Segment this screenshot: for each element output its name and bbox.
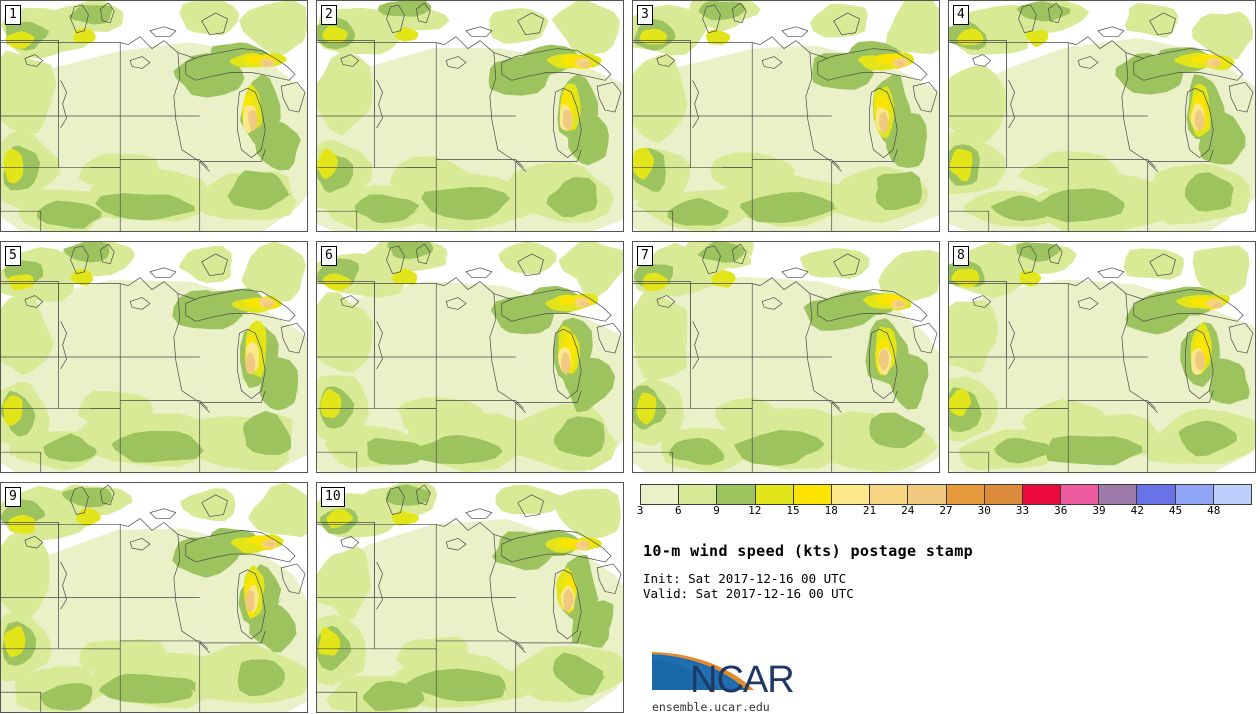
colorbar-tick-label: 33 xyxy=(1016,505,1029,517)
colorbar-segment xyxy=(1061,485,1099,504)
colorbar-tick-label: 36 xyxy=(1054,505,1067,517)
colorbar-segment xyxy=(947,485,985,504)
panel-member-label: 4 xyxy=(953,5,969,25)
ensemble-member-panel-3[interactable]: 3 xyxy=(632,0,940,232)
colorbar-tick-label: 42 xyxy=(1131,505,1144,517)
colorbar-segment xyxy=(1099,485,1137,504)
init-time-label: Init: Sat 2017-12-16 00 UTC xyxy=(643,571,846,586)
colorbar-tick-label: 3 xyxy=(637,505,644,517)
colorbar-segment xyxy=(832,485,870,504)
colorbar xyxy=(640,484,1252,505)
ensemble-member-panel-6[interactable]: 6 xyxy=(316,241,624,473)
colorbar-tick-label: 15 xyxy=(786,505,799,517)
colorbar-segment xyxy=(717,485,755,504)
colorbar-segment xyxy=(908,485,946,504)
colorbar-segment xyxy=(756,485,794,504)
ensemble-member-panel-5[interactable]: 5 xyxy=(0,241,308,473)
colorbar-segment xyxy=(794,485,832,504)
ensemble-member-panel-4[interactable]: 4 xyxy=(948,0,1256,232)
ncar-url-label: ensemble.ucar.edu xyxy=(652,700,770,714)
colorbar-segment xyxy=(1023,485,1061,504)
colorbar-segment xyxy=(1214,485,1251,504)
colorbar-tick-label: 48 xyxy=(1207,505,1220,517)
colorbar-segment xyxy=(641,485,679,504)
colorbar-tick-label: 27 xyxy=(939,505,952,517)
colorbar-segment xyxy=(985,485,1023,504)
ensemble-member-panel-8[interactable]: 8 xyxy=(948,241,1256,473)
colorbar-segment xyxy=(1137,485,1175,504)
ensemble-member-panel-10[interactable]: 10 xyxy=(316,482,624,713)
panel-member-label: 6 xyxy=(321,246,337,266)
panel-member-label: 8 xyxy=(953,246,969,266)
colorbar-segment xyxy=(679,485,717,504)
colorbar-tick-label: 6 xyxy=(675,505,682,517)
colorbar-tick-label: 30 xyxy=(978,505,991,517)
ncar-wordmark: NCAR xyxy=(690,661,794,699)
colorbar-tick-label: 39 xyxy=(1092,505,1105,517)
colorbar-tick-label: 12 xyxy=(748,505,761,517)
colorbar-tick-label: 18 xyxy=(825,505,838,517)
ensemble-member-panel-1[interactable]: 1 xyxy=(0,0,308,232)
ensemble-member-panel-2[interactable]: 2 xyxy=(316,0,624,232)
panel-member-label: 1 xyxy=(5,5,21,25)
colorbar-tick-label: 45 xyxy=(1169,505,1182,517)
panel-member-label: 7 xyxy=(637,246,653,266)
panel-member-label: 9 xyxy=(5,487,21,507)
valid-time-label: Valid: Sat 2017-12-16 00 UTC xyxy=(643,586,854,601)
panel-member-label: 10 xyxy=(321,487,345,507)
ensemble-member-panel-7[interactable]: 7 xyxy=(632,241,940,473)
ensemble-member-panel-9[interactable]: 9 xyxy=(0,482,308,713)
panel-member-label: 3 xyxy=(637,5,653,25)
colorbar-segment xyxy=(1176,485,1214,504)
colorbar-tick-label: 24 xyxy=(901,505,914,517)
panel-member-label: 5 xyxy=(5,246,21,266)
colorbar-tick-label: 9 xyxy=(713,505,720,517)
colorbar-segment xyxy=(870,485,908,504)
panel-member-label: 2 xyxy=(321,5,337,25)
page-title: 10-m wind speed (kts) postage stamp xyxy=(643,542,973,560)
colorbar-tick-labels: 36912151821242730333639424548 xyxy=(640,505,1252,519)
colorbar-tick-label: 21 xyxy=(863,505,876,517)
